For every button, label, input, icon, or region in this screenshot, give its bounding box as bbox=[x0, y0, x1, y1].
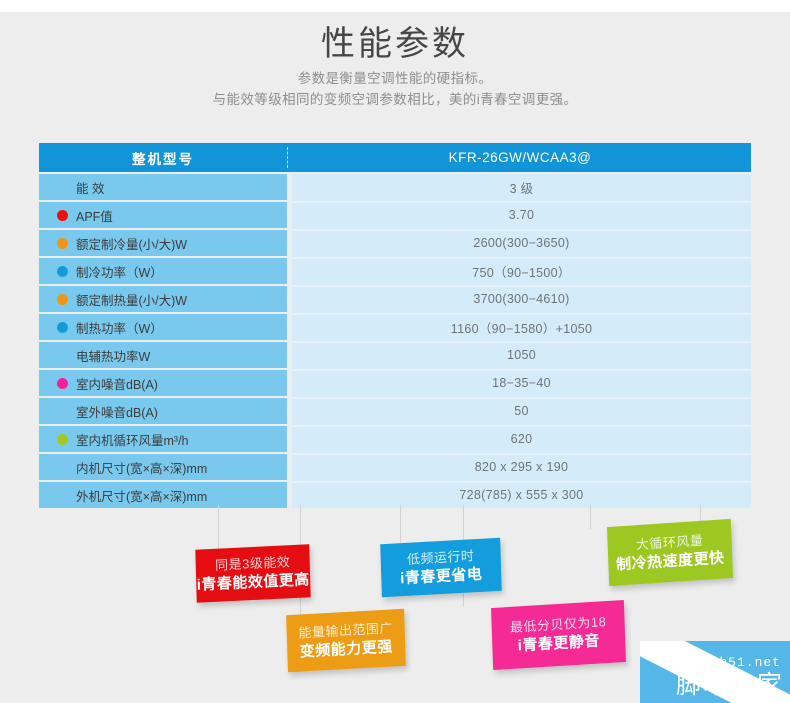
row-label-text: 电辅热功率W bbox=[76, 346, 150, 365]
row-label-text: APF值 bbox=[76, 206, 113, 225]
subtitle-line-2: 与能效等级相同的变频空调参数相比，美的i青春空调更强。 bbox=[0, 89, 790, 110]
row-label-text: 室外噪音dB(A) bbox=[76, 402, 158, 421]
row-label-cell: 外机尺寸(宽×高×深)mm bbox=[39, 482, 287, 508]
connector-line-airflow bbox=[590, 505, 591, 529]
header-model-value: KFR-26GW/WCAA3@ bbox=[289, 143, 751, 172]
page-subtitle: 参数是衡量空调性能的硬指标。 与能效等级相同的变频空调参数相比，美的i青春空调更… bbox=[0, 68, 790, 110]
table-row: 电辅热功率W1050 bbox=[39, 342, 751, 368]
row-label-cell: 室内噪音dB(A) bbox=[39, 370, 287, 396]
row-label-text: 制冷功率（W） bbox=[76, 262, 163, 281]
row-label-text: 室内噪音dB(A) bbox=[76, 374, 158, 393]
row-label-cell: 额定制热量(小/大)W bbox=[39, 286, 287, 312]
row-label-cell: 能 效 bbox=[39, 174, 287, 200]
row-value-cell: 820 x 295 x 190 bbox=[292, 454, 751, 480]
row-label-text: 额定制热量(小/大)W bbox=[76, 290, 187, 309]
table-row: 外机尺寸(宽×高×深)mm728(785) x 555 x 300 bbox=[39, 482, 751, 508]
value-row-separator bbox=[292, 453, 751, 455]
bullet-placeholder bbox=[57, 490, 68, 501]
row-value-cell: 2600(300−3650) bbox=[292, 230, 751, 256]
watermark: jb51.net 脚本之家 bbox=[640, 641, 790, 703]
bullet-placeholder bbox=[57, 350, 68, 361]
value-row-separator bbox=[292, 425, 751, 427]
row-value-cell: 728(785) x 555 x 300 bbox=[292, 482, 751, 508]
callout-noise-line2: i青春更静音 bbox=[517, 631, 600, 656]
row-label-cell: 内机尺寸(宽×高×深)mm bbox=[39, 454, 287, 480]
value-row-separator bbox=[292, 285, 751, 287]
spec-table-header: 整机型号 KFR-26GW/WCAA3@ bbox=[39, 143, 751, 172]
callout-airflow[interactable]: 大循环风量 制冷热速度更快 bbox=[607, 519, 733, 586]
connector-line-power bbox=[400, 505, 401, 545]
bullet-dot-icon bbox=[57, 238, 68, 249]
callout-airflow-line2: 制冷热速度更快 bbox=[616, 548, 725, 575]
callout-inverter-line2: 变频能力更强 bbox=[300, 637, 394, 662]
callout-noise[interactable]: 最低分贝仅为18 i青春更静音 bbox=[491, 600, 626, 670]
row-value-cell: 750（90−1500） bbox=[292, 258, 751, 284]
row-label-cell: APF值 bbox=[39, 202, 287, 228]
bullet-dot-icon bbox=[57, 210, 68, 221]
row-label-cell: 制冷功率（W） bbox=[39, 258, 287, 284]
row-label-text: 室内机循环风量m³/h bbox=[76, 430, 189, 449]
table-row: 能 效3 级 bbox=[39, 174, 751, 200]
subtitle-line-1: 参数是衡量空调性能的硬指标。 bbox=[0, 68, 790, 89]
row-value-cell: 3 级 bbox=[292, 174, 751, 200]
row-label-text: 外机尺寸(宽×高×深)mm bbox=[76, 486, 207, 505]
table-row: 额定制热量(小/大)W3700(300−4610) bbox=[39, 286, 751, 312]
header-model-label: 整机型号 bbox=[39, 143, 287, 172]
row-label-cell: 室内机循环风量m³/h bbox=[39, 426, 287, 452]
value-row-separator bbox=[292, 201, 751, 203]
value-row-separator bbox=[292, 257, 751, 259]
connector-line-energy bbox=[218, 505, 219, 550]
table-row: 制热功率（W）1160（90−1580）+1050 bbox=[39, 314, 751, 340]
callout-power-line2: i青春更省电 bbox=[400, 564, 483, 588]
spec-table: 整机型号 KFR-26GW/WCAA3@ 能 效3 级APF值3.70额定制冷量… bbox=[39, 143, 751, 508]
row-label-cell: 室外噪音dB(A) bbox=[39, 398, 287, 424]
row-label-text: 额定制冷量(小/大)W bbox=[76, 234, 187, 253]
bullet-placeholder bbox=[57, 182, 68, 193]
table-row: 室内噪音dB(A)18−35−40 bbox=[39, 370, 751, 396]
bullet-dot-icon bbox=[57, 378, 68, 389]
row-value-cell: 3.70 bbox=[292, 202, 751, 228]
value-row-separator bbox=[292, 229, 751, 231]
row-value-cell: 18−35−40 bbox=[292, 370, 751, 396]
bullet-placeholder bbox=[57, 406, 68, 417]
row-value-cell: 1160（90−1580）+1050 bbox=[292, 314, 751, 340]
bullet-placeholder bbox=[57, 462, 68, 473]
callout-energy-line2: i青春能效值更高 bbox=[196, 570, 310, 596]
bullet-dot-icon bbox=[57, 434, 68, 445]
row-label-text: 内机尺寸(宽×高×深)mm bbox=[76, 458, 207, 477]
callout-power[interactable]: 低频运行时 i青春更省电 bbox=[380, 538, 502, 597]
value-row-separator bbox=[292, 397, 751, 399]
callout-inverter[interactable]: 能量输出范围广 变频能力更强 bbox=[286, 609, 406, 673]
value-row-separator bbox=[292, 313, 751, 315]
table-row: 室内机循环风量m³/h620 bbox=[39, 426, 751, 452]
bullet-dot-icon bbox=[57, 294, 68, 305]
row-label-cell: 额定制冷量(小/大)W bbox=[39, 230, 287, 256]
callout-energy[interactable]: 同是3级能效 i青春能效值更高 bbox=[195, 544, 310, 603]
row-value-cell: 3700(300−4610) bbox=[292, 286, 751, 312]
value-row-separator bbox=[292, 481, 751, 483]
page-title: 性能参数 bbox=[0, 16, 790, 65]
table-row: 制冷功率（W）750（90−1500） bbox=[39, 258, 751, 284]
row-label-cell: 制热功率（W） bbox=[39, 314, 287, 340]
bullet-dot-icon bbox=[57, 322, 68, 333]
bullet-dot-icon bbox=[57, 266, 68, 277]
row-label-cell: 电辅热功率W bbox=[39, 342, 287, 368]
row-label-text: 能 效 bbox=[76, 178, 104, 197]
page-root: 性能参数 参数是衡量空调性能的硬指标。 与能效等级相同的变频空调参数相比，美的i… bbox=[0, 0, 790, 703]
watermark-name: 脚本之家 bbox=[676, 665, 784, 701]
row-value-cell: 50 bbox=[292, 398, 751, 424]
table-row: 额定制冷量(小/大)W2600(300−3650) bbox=[39, 230, 751, 256]
value-row-separator bbox=[292, 369, 751, 371]
spec-table-body: 能 效3 级APF值3.70额定制冷量(小/大)W2600(300−3650)制… bbox=[39, 174, 751, 508]
value-row-separator bbox=[292, 341, 751, 343]
table-row: APF值3.70 bbox=[39, 202, 751, 228]
row-value-cell: 1050 bbox=[292, 342, 751, 368]
table-row: 室外噪音dB(A)50 bbox=[39, 398, 751, 424]
row-label-text: 制热功率（W） bbox=[76, 318, 163, 337]
row-value-cell: 620 bbox=[292, 426, 751, 452]
top-white-strip bbox=[0, 0, 790, 12]
table-row: 内机尺寸(宽×高×深)mm820 x 295 x 190 bbox=[39, 454, 751, 480]
